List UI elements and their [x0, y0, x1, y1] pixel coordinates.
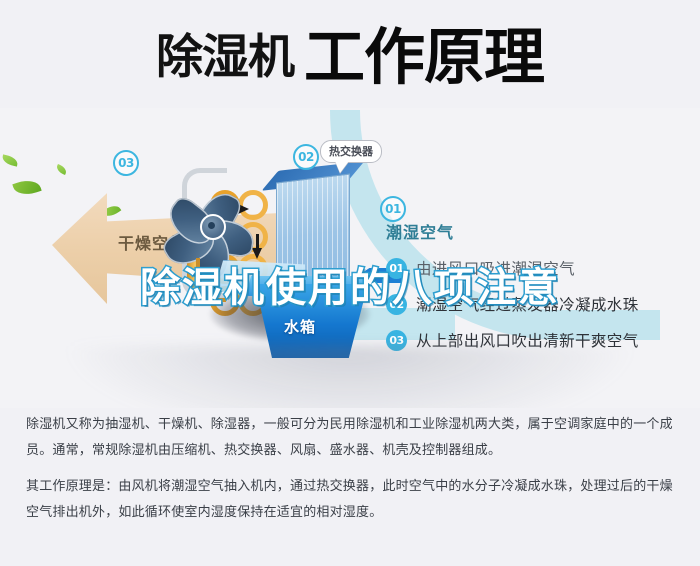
diagram-badge-02: 02	[293, 144, 319, 170]
humid-air-label: 潮湿空气	[386, 219, 454, 243]
step-label: 从上部出风口吹出清新干爽空气	[416, 329, 639, 351]
leaf-icon	[12, 176, 41, 198]
body-paragraph-1: 除湿机又称为抽湿机、干燥机、除湿器，一般可分为民用除湿机和工业除湿机两大类，属于…	[26, 412, 674, 464]
page-title: 除湿机 工作原理	[0, 14, 700, 100]
water-tank-label: 水箱	[284, 316, 316, 337]
step-item: 03 从上部出风口吹出清新干爽空气	[386, 322, 698, 358]
fan-hub	[200, 214, 226, 240]
infographic-page: 除湿机 工作原理 干燥空气	[0, 0, 700, 566]
heat-exchanger-callout: 热交换器	[320, 140, 382, 163]
leaf-icon	[55, 164, 68, 175]
diagram-illustration: 干燥空气	[0, 108, 700, 408]
article-body: 除湿机又称为抽湿机、干燥机、除湿器，一般可分为民用除湿机和工业除湿机两大类，属于…	[0, 412, 700, 536]
diagram-badge-03: 03	[113, 150, 139, 176]
body-paragraph-2: 其工作原理是：由风机将潮湿空气抽入机内，通过热交换器，此时空气中的水分子冷凝成水…	[26, 474, 674, 526]
leaf-icon	[1, 154, 19, 166]
page-title-secondary: 工作原理	[304, 27, 544, 88]
page-title-primary: 除湿机	[156, 34, 294, 81]
overlay-headline: 除湿机使用的八项注意	[0, 262, 700, 314]
step-number-badge: 03	[386, 330, 407, 351]
